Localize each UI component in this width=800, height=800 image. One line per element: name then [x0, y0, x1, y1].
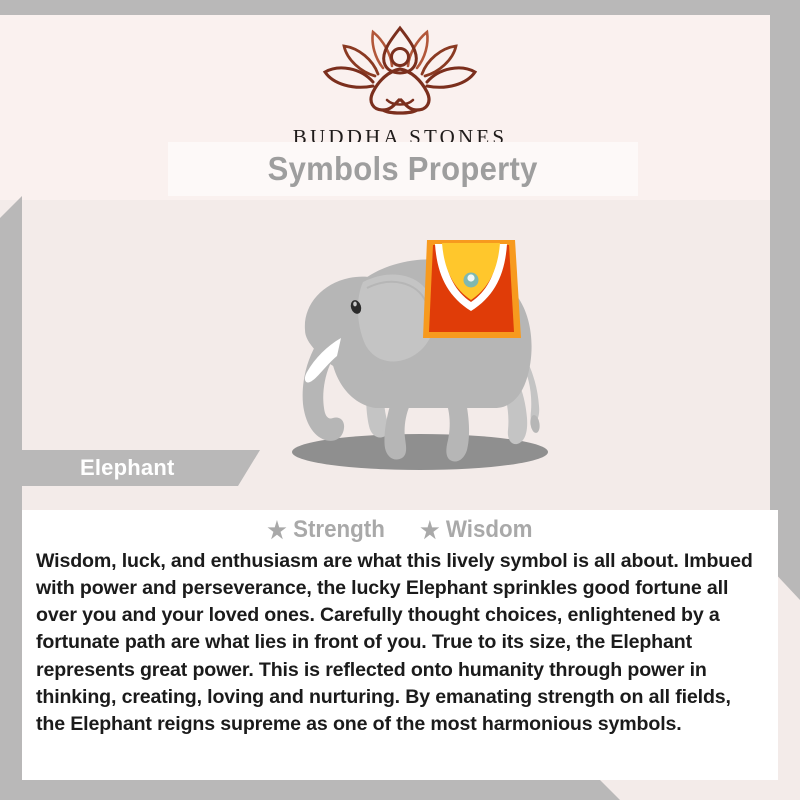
brand-header: BUDDHA STONES: [0, 0, 800, 150]
star-icon: ★: [420, 519, 439, 542]
symbol-name: Elephant: [80, 455, 175, 481]
attribute-strength: ★ Strength: [268, 516, 385, 544]
attribute-strength-label: Strength: [294, 516, 386, 544]
page-title: Symbols Property: [268, 150, 538, 188]
title-band: Symbols Property: [168, 142, 638, 196]
description-panel: ★ Strength ★ Wisdom Wisdom, luck, and en…: [22, 510, 778, 780]
star-icon: ★: [268, 519, 287, 542]
attributes-row: ★ Strength ★ Wisdom: [22, 510, 778, 544]
attribute-wisdom: ★ Wisdom: [420, 516, 532, 544]
frame-bar-left: [0, 196, 22, 800]
walking-elephant-with-saddle-illustration: [245, 212, 575, 502]
symbol-property-card: BUDDHA STONES Symbols Property: [0, 0, 800, 800]
lotus-meditation-figure-icon: [315, 24, 485, 119]
symbol-description: Wisdom, luck, and enthusiasm are what th…: [22, 548, 778, 738]
symbol-name-ribbon: Elephant: [22, 450, 260, 486]
attribute-wisdom-label: Wisdom: [446, 516, 533, 544]
